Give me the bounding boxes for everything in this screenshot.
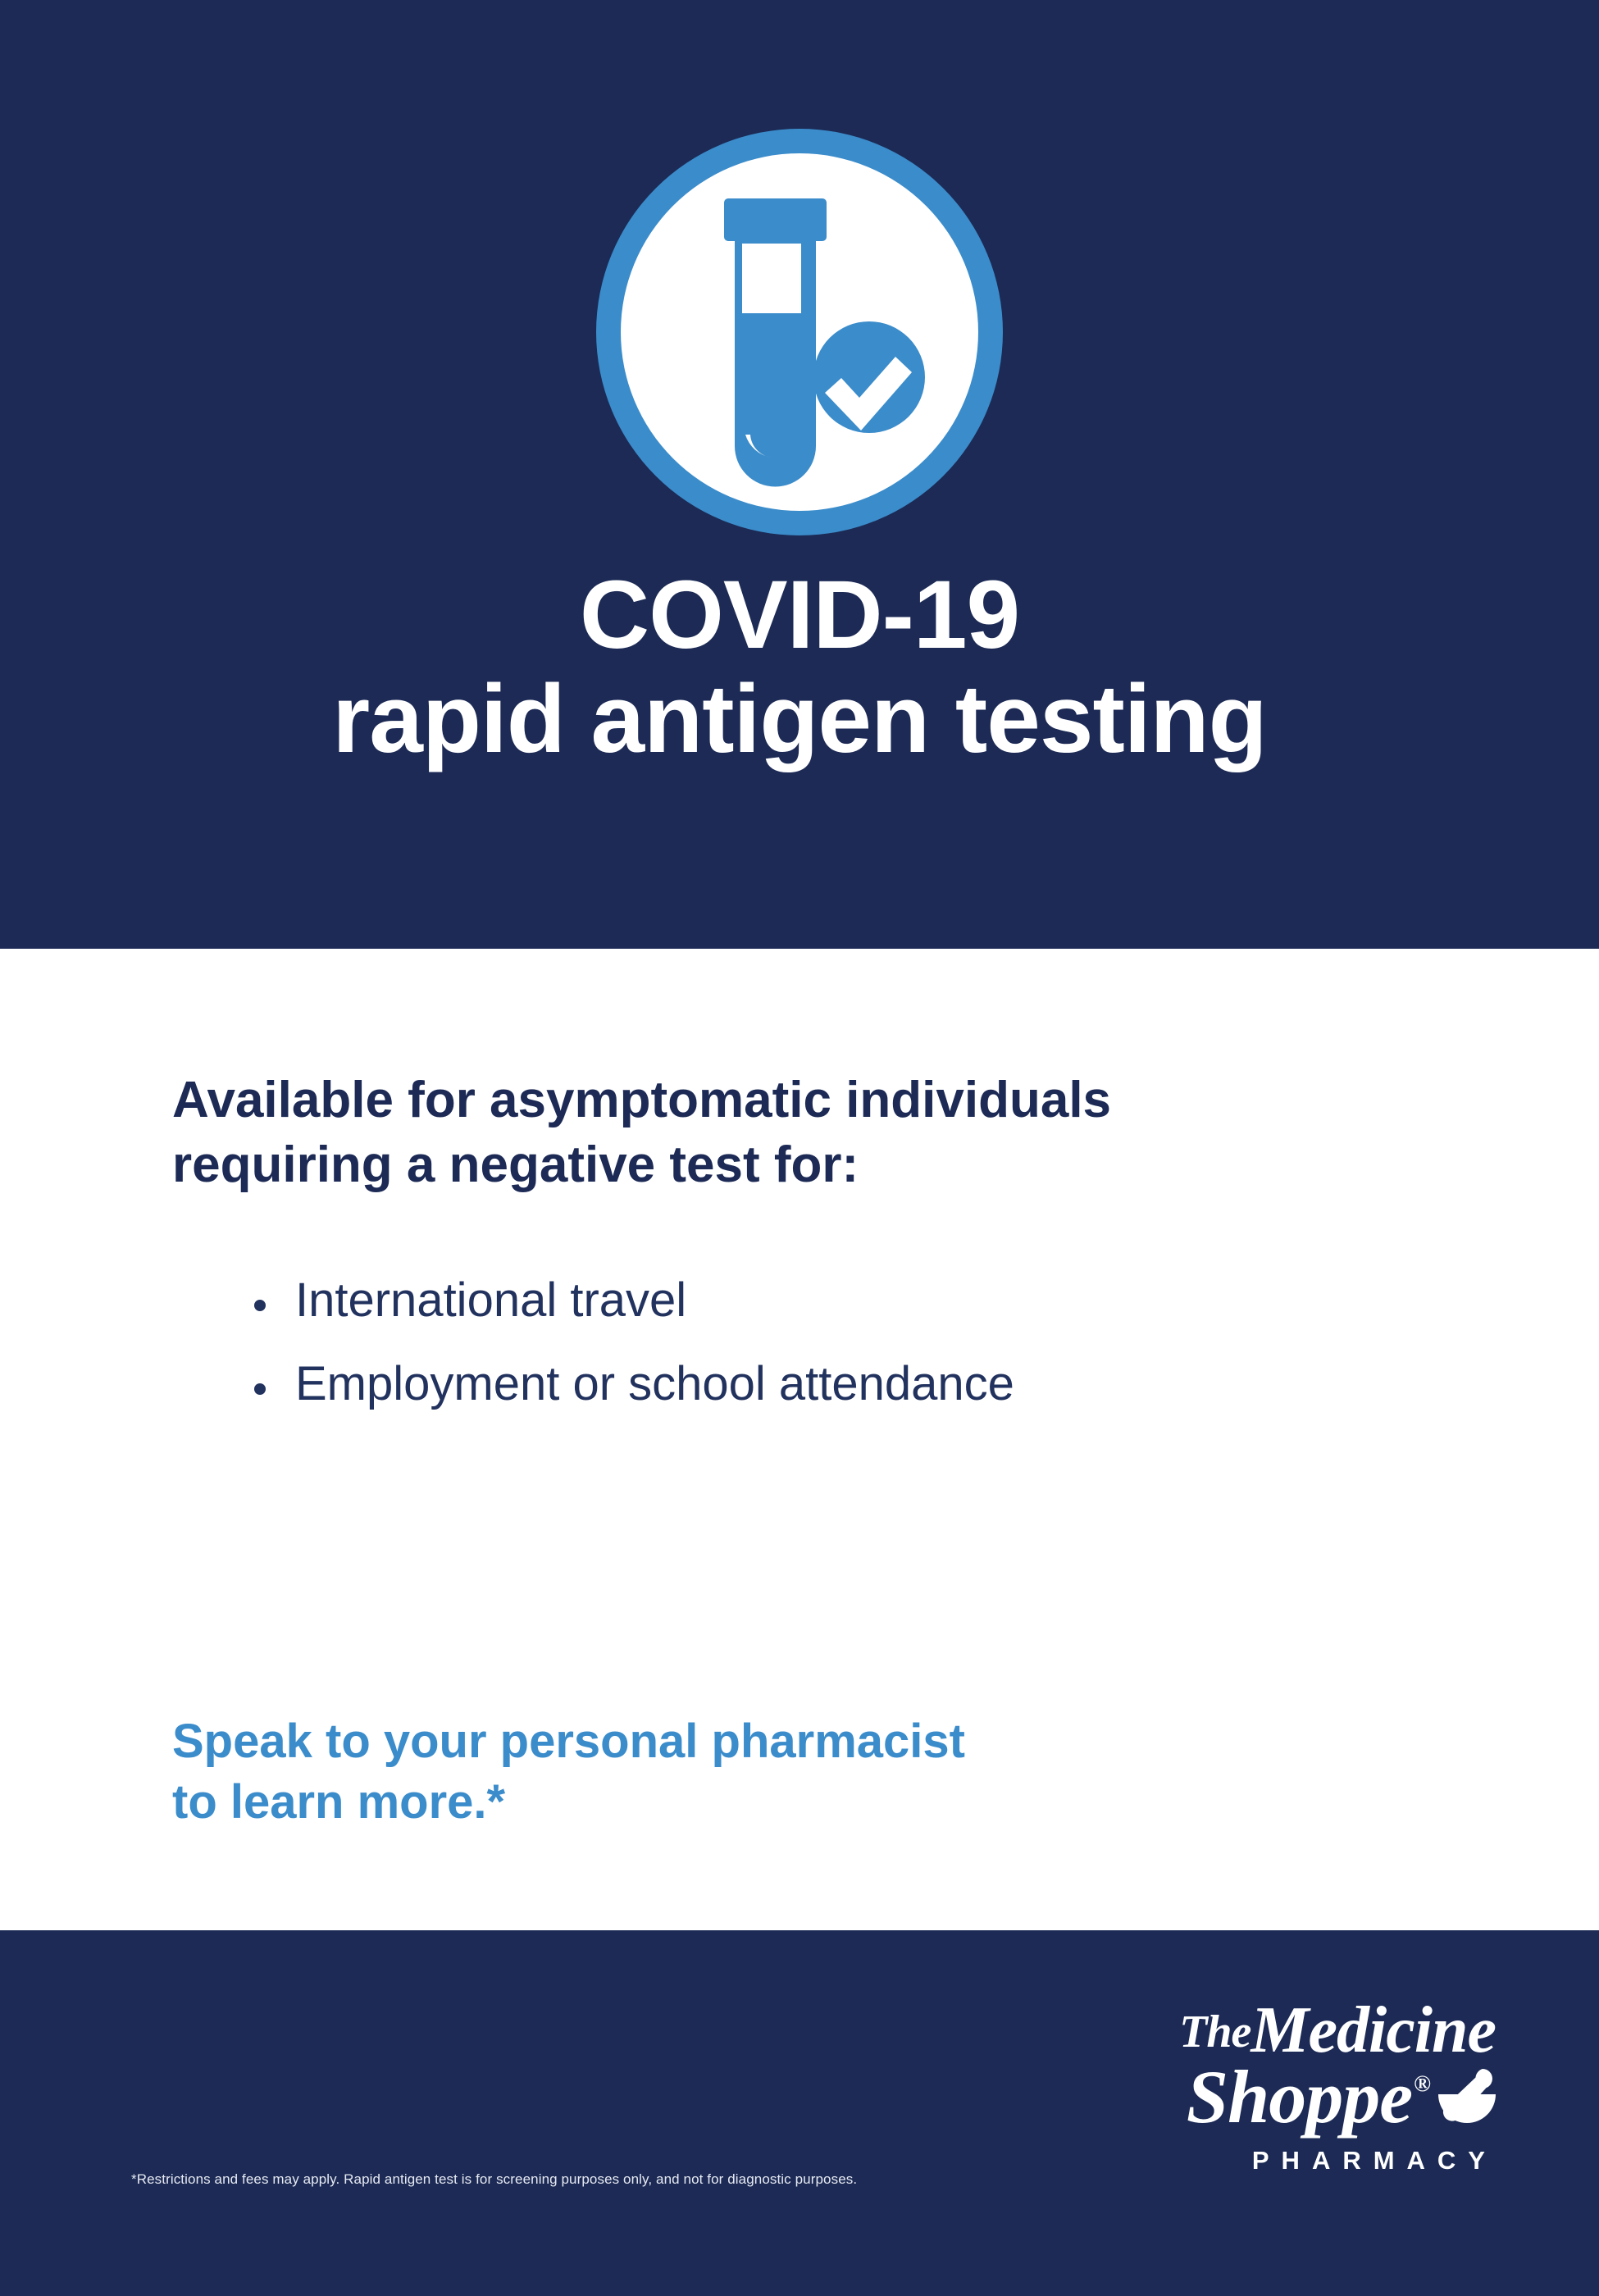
mortar-and-pestle-icon [1435,2066,1499,2137]
registered-mark-icon: ® [1414,2071,1430,2097]
header-banner: COVID-19 rapid antigen testing [0,0,1599,949]
list-item: Employment or school attendance [254,1360,1484,1408]
footer-banner: TheMedicine Shoppe® PHARMACY *Restrictio… [0,1930,1599,2296]
cta-line-2: to learn more.* [172,1772,1320,1833]
title-line-1: COVID-19 [0,563,1599,667]
logo-line-1: TheMedicine [1056,2000,1499,2061]
list-item: International travel [254,1277,1484,1324]
main-content: Available for asymptomatic individuals r… [0,949,1599,1930]
call-to-action: Speak to your personal pharmacist to lea… [172,1711,1320,1832]
lede-line-1: Available for asymptomatic individuals [172,1068,1484,1132]
list-item-label: International travel [295,1277,1484,1324]
disclaimer-text: *Restrictions and fees may apply. Rapid … [131,2171,992,2189]
cta-line-1: Speak to your personal pharmacist [172,1711,1320,1772]
page-title: COVID-19 rapid antigen testing [0,563,1599,772]
title-line-2: rapid antigen testing [0,667,1599,772]
logo-shoppe: Shoppe [1187,2055,1412,2139]
bullet-dot-icon [254,1383,266,1395]
logo-the: The [1179,2007,1250,2057]
logo-tagline: PHARMACY [1056,2146,1499,2175]
list-item-label: Employment or school attendance [295,1360,1484,1408]
logo-line-2: Shoppe® [1056,2061,1499,2137]
test-tube-check-icon [586,119,1013,545]
brand-logo: TheMedicine Shoppe® PHARMACY [1056,2000,1499,2175]
lede-line-2: requiring a negative test for: [172,1132,1484,1197]
lede-heading: Available for asymptomatic individuals r… [172,1068,1484,1198]
poster-root: COVID-19 rapid antigen testing Available… [0,0,1599,2296]
eligibility-list: International travel Employment or schoo… [254,1277,1484,1444]
bullet-dot-icon [254,1300,266,1311]
